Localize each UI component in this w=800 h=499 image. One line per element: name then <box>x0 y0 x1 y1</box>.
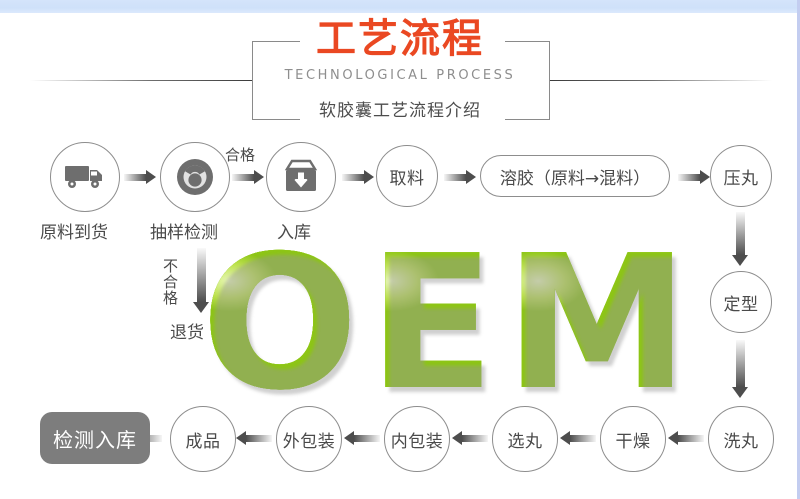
oem-letter-o: O <box>201 248 358 398</box>
flow-node-inner-packaging[interactable]: 内包装 <box>384 406 450 472</box>
flow-label-raw-material-arrival: 原料到货 <box>40 218 108 243</box>
flow-label-finished-product: 成品 <box>186 427 221 452</box>
top-blue-band <box>0 0 800 13</box>
flow-node-material-picking[interactable]: 取料 <box>376 145 438 207</box>
flow-label-inspection-warehousing: 检测入库 <box>53 424 137 453</box>
flow-node-finished-product[interactable]: 成品 <box>170 406 236 472</box>
arrow-left-5 <box>236 434 272 443</box>
flow-label-pill-washing: 洗丸 <box>724 427 759 452</box>
arrow-right-4 <box>444 173 476 182</box>
branch-label-fail: 不合格 <box>160 258 181 306</box>
flow-label-shaping: 定型 <box>724 290 759 315</box>
oem-letter-m: M <box>505 248 689 398</box>
flow-node-pill-pressing[interactable]: 压丸 <box>710 145 772 207</box>
arrow-right-5 <box>678 173 710 182</box>
flow-node-inspection-warehousing[interactable]: 检测入库 <box>40 412 150 464</box>
arrow-right-1 <box>124 173 156 182</box>
branch-label-pass: 合格 <box>225 144 255 165</box>
flow-node-drying[interactable]: 干燥 <box>600 406 666 472</box>
flow-label-outer-packaging: 外包装 <box>283 427 336 452</box>
branch-label-return: 退货 <box>170 318 204 343</box>
truck-icon <box>64 162 106 192</box>
page-subtitle: 软胶囊工艺流程介绍 <box>0 96 800 121</box>
arrow-left-4 <box>344 434 380 443</box>
flow-node-outer-packaging[interactable]: 外包装 <box>276 406 342 472</box>
inbox-down-arrow-icon <box>281 159 321 195</box>
oem-watermark: O E M <box>185 228 705 418</box>
flow-node-raw-material-arrival[interactable] <box>50 142 120 212</box>
arrow-left-1 <box>668 434 704 443</box>
flow-node-shaping[interactable]: 定型 <box>710 271 772 333</box>
flow-node-pill-sorting[interactable]: 选丸 <box>492 406 558 472</box>
arrow-left-3 <box>452 434 488 443</box>
process-flow-infographic: 工艺流程 TECHNOLOGICAL PROCESS 软胶囊工艺流程介绍 O E… <box>0 0 800 499</box>
arrow-down-2 <box>735 340 746 398</box>
arrow-down-1 <box>735 212 746 266</box>
flow-label-pill-sorting: 选丸 <box>508 427 543 452</box>
arrow-right-2 <box>232 173 264 182</box>
inspection-icon <box>172 154 218 200</box>
arrow-right-3 <box>342 173 374 182</box>
flow-label-inner-packaging: 内包装 <box>391 427 444 452</box>
flow-label-sampling-inspection: 抽样检测 <box>150 218 218 243</box>
flow-label-warehousing: 入库 <box>277 218 311 243</box>
oem-letter-e: E <box>368 248 494 398</box>
flow-node-warehousing[interactable] <box>266 142 336 212</box>
page-title-english: TECHNOLOGICAL PROCESS <box>0 68 800 83</box>
flow-label-drying: 干燥 <box>616 427 651 452</box>
header: 工艺流程 TECHNOLOGICAL PROCESS 软胶囊工艺流程介绍 <box>0 14 800 120</box>
flow-node-sampling-inspection[interactable] <box>160 142 230 212</box>
flow-node-pill-washing[interactable]: 洗丸 <box>708 406 774 472</box>
flow-node-gel-melting[interactable]: 溶胶（原料→混料） <box>480 155 670 197</box>
arrow-down-reject <box>196 248 207 314</box>
flow-label-material-picking: 取料 <box>390 164 425 189</box>
flow-label-pill-pressing: 压丸 <box>724 164 759 189</box>
flow-label-gel-melting: 溶胶（原料→混料） <box>500 164 650 189</box>
page-title: 工艺流程 <box>0 17 800 61</box>
arrow-left-2 <box>560 434 596 443</box>
